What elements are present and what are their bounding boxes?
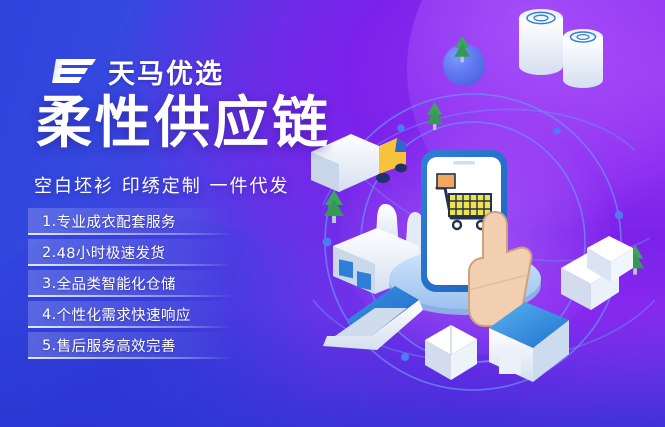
- feature-text: 售后服务高效完善: [57, 335, 176, 356]
- page-title: 柔性供应链: [36, 96, 331, 152]
- tianma-f-mark-icon: [50, 57, 98, 87]
- feature-text: 48小时极速发货: [57, 242, 166, 263]
- feature-index: 5.: [42, 338, 57, 354]
- list-item: 4. 个性化需求快速响应: [28, 301, 233, 328]
- feature-text: 专业成衣配套服务: [57, 211, 176, 232]
- list-item: 5. 售后服务高效完善: [28, 332, 233, 359]
- promo-banner: 天马优选 柔性供应链 空白坯衫 印绣定制 一件代发 1. 专业成衣配套服务 2.…: [0, 0, 665, 427]
- feature-index: 3.: [42, 276, 57, 292]
- feature-text: 全品类智能化仓储: [57, 273, 176, 294]
- feature-list: 1. 专业成衣配套服务 2. 48小时极速发货 3. 全品类智能化仓储 4. 个…: [28, 208, 233, 363]
- hero-subtitle: 空白坯衫 印绣定制 一件代发: [34, 172, 289, 198]
- feature-text: 个性化需求快速响应: [57, 304, 191, 325]
- list-item: 3. 全品类智能化仓储: [28, 270, 233, 297]
- list-item: 1. 专业成衣配套服务: [28, 208, 233, 235]
- feature-index: 1.: [42, 214, 57, 230]
- feature-index: 4.: [42, 307, 57, 323]
- brand-logo[interactable]: 天马优选: [50, 52, 224, 91]
- list-item: 2. 48小时极速发货: [28, 239, 233, 266]
- hero-text-column: 天马优选 柔性供应链 空白坯衫 印绣定制 一件代发 1. 专业成衣配套服务 2.…: [0, 0, 360, 427]
- fabric-roll-icon: [519, 9, 603, 88]
- brand-name: 天马优选: [108, 52, 224, 91]
- feature-index: 2.: [42, 245, 57, 261]
